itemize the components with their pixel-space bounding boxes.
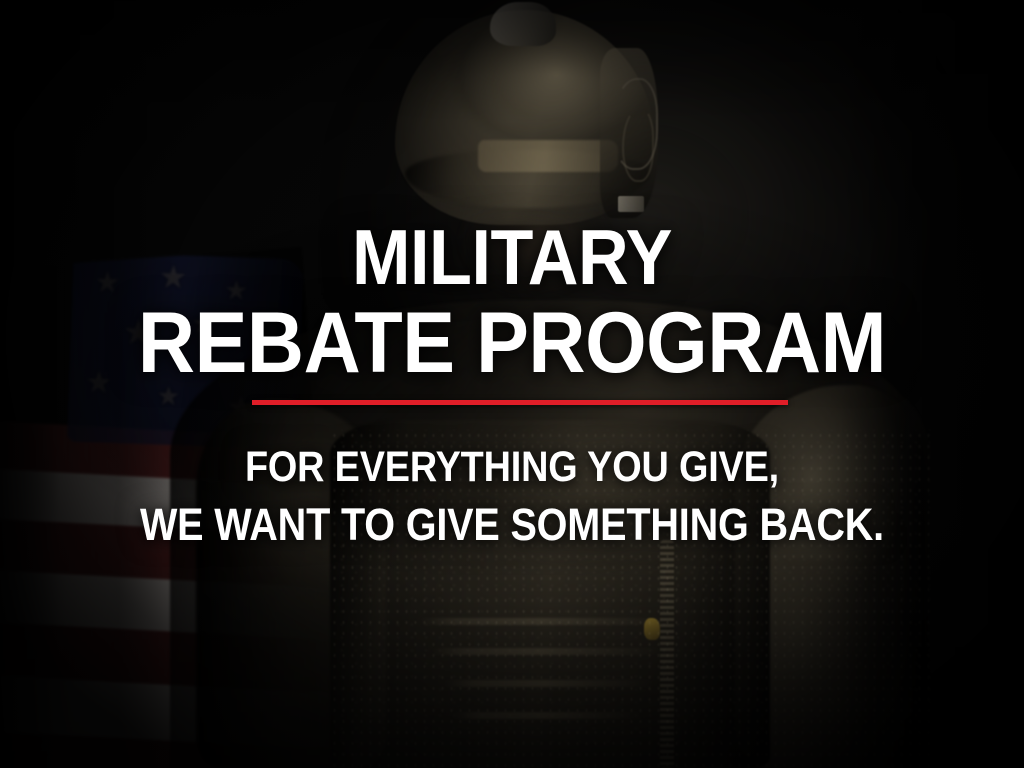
red-divider-rule xyxy=(252,400,788,405)
headline-line-1: MILITARY xyxy=(51,218,973,296)
subheadline-line-1: FOR EVERYTHING YOU GIVE, xyxy=(61,446,962,489)
banner-content: MILITARY REBATE PROGRAM FOR EVERYTHING Y… xyxy=(0,0,1024,768)
headline-line-2: REBATE PROGRAM xyxy=(41,300,983,386)
military-rebate-program-banner: ★ ★ ★ ★ ★ ★ ★ ★ ★ xyxy=(0,0,1024,768)
subheadline-line-2: WE WANT TO GIVE SOMETHING BACK. xyxy=(61,502,962,547)
